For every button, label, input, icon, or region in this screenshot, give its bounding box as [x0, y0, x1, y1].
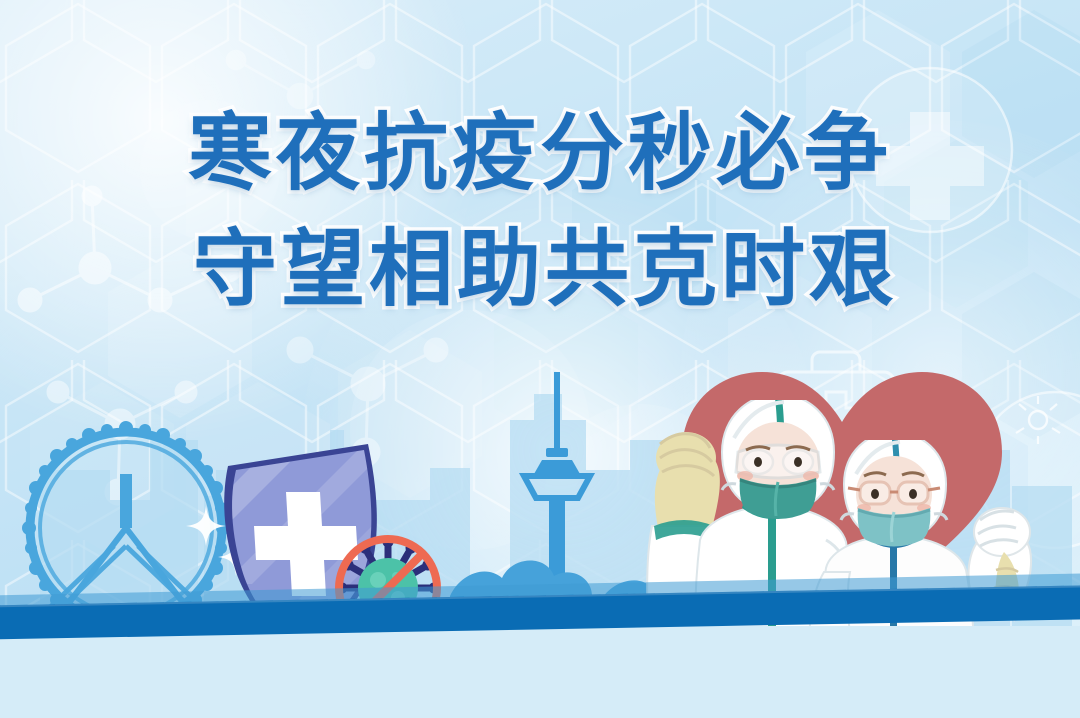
poster-title: 寒夜抗疫分秒必争 守望相助共克时艰 [0, 96, 1080, 328]
ground-pale-band [0, 626, 1080, 718]
poster-canvas: 寒夜抗疫分秒必争 守望相助共克时艰 [0, 0, 1080, 718]
title-line-2: 守望相助共克时艰 [0, 212, 1080, 328]
title-line-1: 寒夜抗疫分秒必争 [0, 96, 1080, 212]
